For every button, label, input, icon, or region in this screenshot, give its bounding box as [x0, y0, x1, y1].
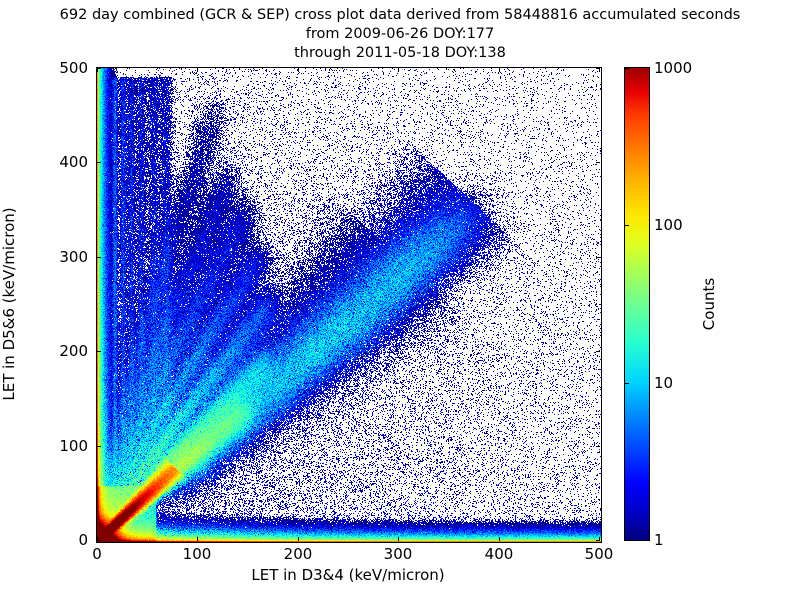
- xticklabel-0: 0: [92, 545, 102, 563]
- xtick-400: [499, 537, 500, 541]
- xtick-top-200: [298, 68, 299, 72]
- colorbar: [624, 67, 650, 541]
- xticklabel-100: 100: [183, 545, 212, 563]
- colorbar-ticklabel-10: 10: [654, 374, 673, 392]
- ytick-right-0: [596, 540, 600, 541]
- colorbar-ticklabel-1: 1: [654, 531, 664, 549]
- ytick-400: [97, 162, 101, 163]
- title-line-2: from 2009-06-26 DOY:177: [0, 25, 800, 44]
- colorbar-title: Counts: [700, 278, 718, 330]
- density-heatmap: [97, 68, 601, 542]
- yticklabel-400: 400: [59, 153, 88, 171]
- ytick-0: [97, 540, 101, 541]
- ytick-300: [97, 257, 101, 258]
- ytick-right-500: [596, 68, 600, 69]
- title-line-1: 692 day combined (GCR & SEP) cross plot …: [0, 6, 800, 25]
- yticklabel-100: 100: [59, 437, 88, 455]
- yticklabel-0: 0: [78, 531, 88, 549]
- ytick-right-200: [596, 351, 600, 352]
- xticklabel-500: 500: [585, 545, 614, 563]
- xtick-200: [298, 537, 299, 541]
- xticklabel-400: 400: [485, 545, 514, 563]
- xtick-top-100: [197, 68, 198, 72]
- xtick-top-400: [499, 68, 500, 72]
- colorbar-ticklabel-1000: 1000: [654, 59, 692, 77]
- yticklabel-500: 500: [59, 59, 88, 77]
- colorbar-tick-1000: [624, 68, 629, 69]
- ytick-right-100: [596, 446, 600, 447]
- plot-area: [96, 67, 602, 543]
- yticklabel-200: 200: [59, 342, 88, 360]
- x-axis-label: LET in D3&4 (keV/micron): [96, 566, 600, 584]
- colorbar-ticklabel-100: 100: [654, 216, 683, 234]
- y-axis-label: LET in D5&6 (keV/micron): [0, 207, 18, 400]
- xticklabel-200: 200: [284, 545, 313, 563]
- ytick-right-400: [596, 162, 600, 163]
- xticklabel-300: 300: [384, 545, 413, 563]
- yticklabel-300: 300: [59, 248, 88, 266]
- colorbar-tick-10: [624, 383, 629, 384]
- xtick-300: [398, 537, 399, 541]
- ytick-100: [97, 446, 101, 447]
- xtick-top-300: [398, 68, 399, 72]
- figure-canvas: 692 day combined (GCR & SEP) cross plot …: [0, 0, 800, 600]
- ytick-right-300: [596, 257, 600, 258]
- colorbar-gradient: [624, 67, 650, 541]
- colorbar-tick-1: [624, 540, 629, 541]
- xtick-100: [197, 537, 198, 541]
- ytick-200: [97, 351, 101, 352]
- colorbar-tick-100: [624, 225, 629, 226]
- ytick-500: [97, 68, 101, 69]
- chart-title: 692 day combined (GCR & SEP) cross plot …: [0, 6, 800, 63]
